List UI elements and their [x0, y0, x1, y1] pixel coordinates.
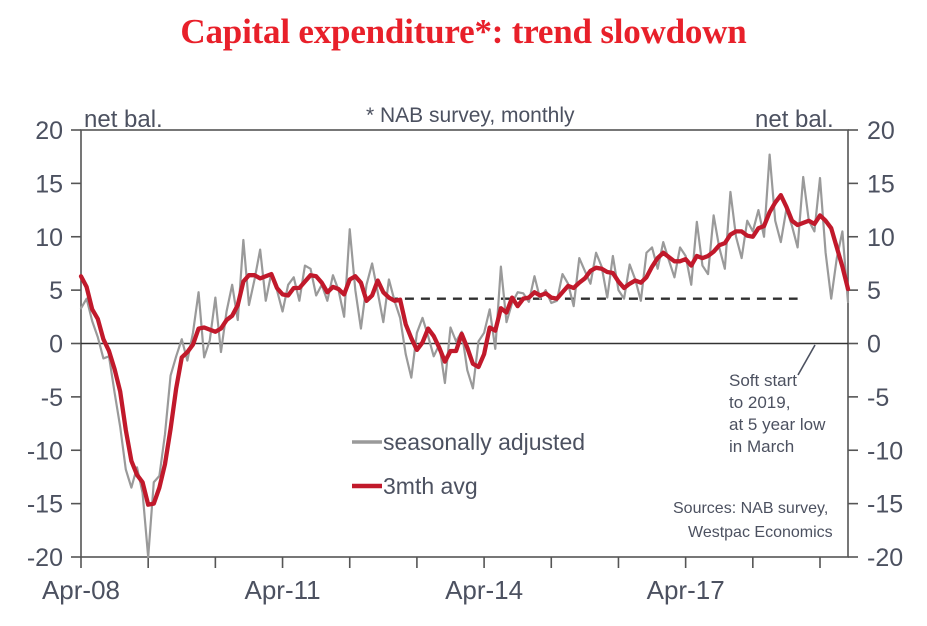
legend-label-seasonally-adjusted: seasonally adjusted	[383, 429, 585, 455]
x-axis-labels: Apr-08Apr-11Apr-14Apr-17	[42, 575, 725, 605]
y-axis-label-right: -5	[867, 384, 889, 412]
y-axis-label-right: -15	[867, 491, 903, 519]
x-axis-ticks	[81, 557, 820, 568]
y-axis-label-left: -20	[27, 544, 63, 572]
y-axis-label-right: 0	[867, 331, 881, 359]
y-axis-label-right: 20	[867, 117, 895, 145]
y-axis-right-labels: 20151050-5-10-15-20	[867, 117, 903, 572]
sources-line-2: Westpac Economics	[688, 524, 833, 541]
y-axis-label-right: 10	[867, 224, 895, 252]
y-axis-label-left: -5	[41, 384, 63, 412]
y-axis-label-right: -10	[867, 437, 903, 465]
x-axis-label: Apr-11	[244, 575, 320, 605]
y-axis-label-left: 10	[35, 224, 63, 252]
y-axis-label-left: -10	[27, 437, 63, 465]
units-label-right: net bal.	[755, 106, 834, 133]
x-axis-label: Apr-17	[647, 575, 725, 605]
annotation-leader-line	[798, 345, 815, 375]
annotation-soft-start: Soft start to 2019, at 5 year low in Mar…	[729, 371, 826, 456]
annotation-line-3: at 5 year low	[729, 415, 826, 434]
y-axis-label-left: -15	[27, 491, 63, 519]
annotation-line-4: in March	[729, 437, 794, 456]
y-axis-left-ticks	[71, 130, 81, 557]
y-axis-label-left: 20	[35, 117, 63, 145]
footnote-label: * NAB survey, monthly	[366, 104, 575, 127]
x-axis-label: Apr-14	[445, 575, 523, 605]
y-axis-left-labels: 20151050-5-10-15-20	[27, 117, 63, 572]
y-axis-label-left: 15	[35, 170, 63, 198]
legend: seasonally adjusted 3mth avg	[352, 429, 585, 499]
sources-line-1: Sources: NAB survey,	[673, 500, 828, 517]
units-label-left: net bal.	[84, 106, 163, 133]
chart-container: Capital expenditure*: trend slowdown 201…	[0, 0, 927, 626]
chart-svg: 20151050-5-10-15-20 20151050-5-10-15-20 …	[0, 0, 927, 626]
annotation-line-1: Soft start	[729, 371, 797, 390]
sources-note: Sources: NAB survey, Westpac Economics	[673, 500, 833, 541]
y-axis-label-right: 5	[867, 277, 881, 305]
legend-label-3mth-avg: 3mth avg	[383, 473, 478, 499]
y-axis-label-right: -20	[867, 544, 903, 572]
y-axis-label-left: 5	[49, 277, 63, 305]
annotation-line-2: to 2019,	[729, 393, 790, 412]
x-axis-label: Apr-08	[42, 575, 120, 605]
y-axis-label-right: 15	[867, 170, 895, 198]
y-axis-right-ticks	[848, 130, 858, 557]
y-axis-label-left: 0	[49, 331, 63, 359]
